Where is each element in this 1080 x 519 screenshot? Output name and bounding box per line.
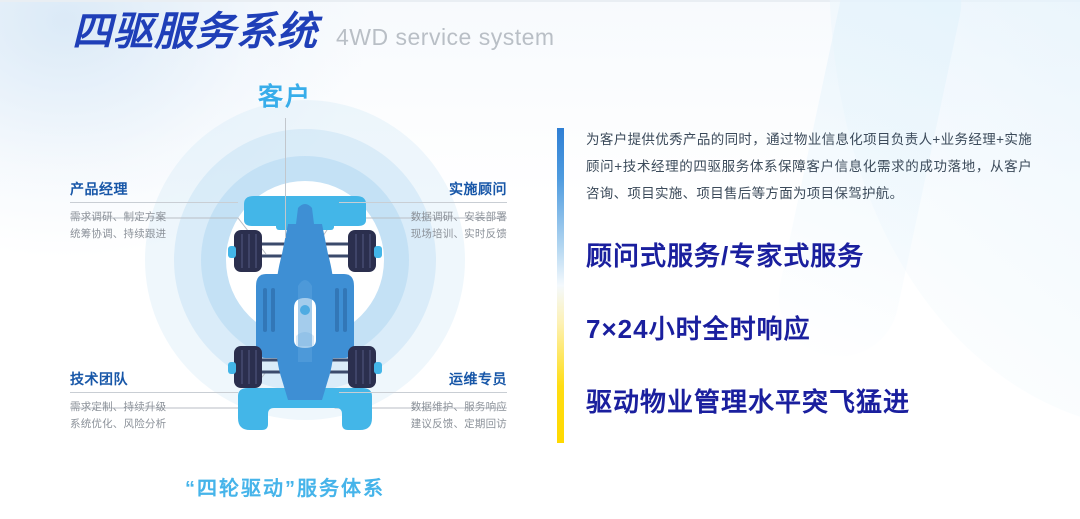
description-paragraph: 为客户提供优秀产品的同时，通过物业信息化项目负责人+业务经理+实施顾问+技术经理… (586, 126, 1032, 207)
node-detail-line: 数据维护、服务响应 (339, 399, 507, 415)
node-rule (70, 202, 238, 203)
node-title: 运维专员 (339, 372, 507, 392)
node-title: 产品经理 (70, 182, 238, 202)
top-divider (0, 0, 1080, 2)
node-product-manager[interactable]: 产品经理 需求调研、制定方案 统筹协调、持续跟进 (70, 182, 238, 242)
node-rule (70, 392, 238, 393)
node-detail-line: 建议反馈、定期回访 (339, 416, 507, 432)
customer-label: 客户 (30, 84, 540, 112)
headline-item: 顾问式服务/专家式服务 (586, 241, 1032, 272)
node-detail-line: 需求调研、制定方案 (70, 209, 238, 225)
node-implementation-consultant[interactable]: 实施顾问 数据调研、安装部署 现场培训、实时反馈 (339, 182, 507, 242)
node-title: 实施顾问 (339, 182, 507, 202)
page-subtitle: 4WD service system (336, 24, 555, 51)
node-detail-line: 统筹协调、持续跟进 (70, 226, 238, 242)
node-detail-line: 数据调研、安装部署 (339, 209, 507, 225)
node-detail-line: 系统优化、风险分析 (70, 416, 238, 432)
slide-root: 四驱服务系统 4WD service system (0, 0, 1080, 519)
customer-connector-stem (285, 118, 286, 238)
content-pane: 为客户提供优秀产品的同时，通过物业信息化项目负责人+业务经理+实施顾问+技术经理… (586, 126, 1032, 419)
page-header: 四驱服务系统 4WD service system (72, 12, 555, 52)
node-title: 技术团队 (70, 372, 238, 392)
four-wheel-drive-diagram: 客户 产品经理 需求调研、制定方案 统筹协调、持续跟进 实施顾问 数据调研、安装… (30, 72, 540, 519)
headline-item: 7×24小时全时响应 (586, 314, 1032, 345)
diagram-caption: “四轮驱动”服务体系 (30, 472, 540, 501)
node-technical-team[interactable]: 技术团队 需求定制、持续升级 系统优化、风险分析 (70, 372, 238, 432)
node-detail-line: 需求定制、持续升级 (70, 399, 238, 415)
node-detail-line: 现场培训、实时反馈 (339, 226, 507, 242)
headline-item: 驱动物业管理水平突飞猛进 (586, 387, 1032, 418)
vertical-accent-bar (557, 128, 564, 443)
node-rule (339, 202, 507, 203)
node-operations-specialist[interactable]: 运维专员 数据维护、服务响应 建议反馈、定期回访 (339, 372, 507, 432)
node-rule (339, 392, 507, 393)
headline-list: 顾问式服务/专家式服务 7×24小时全时响应 驱动物业管理水平突飞猛进 (586, 241, 1032, 419)
page-title: 四驱服务系统 (72, 12, 318, 52)
